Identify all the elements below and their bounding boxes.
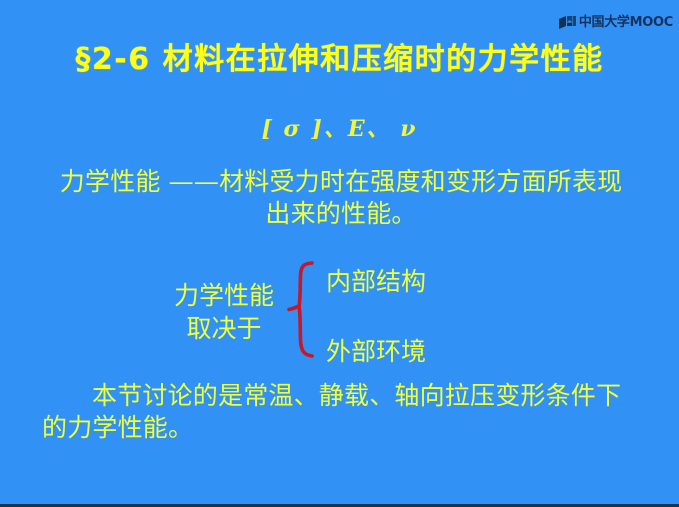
dependency-left-label-line1: 力学性能 bbox=[150, 280, 298, 313]
dependency-item-external: 外部环境 bbox=[326, 332, 426, 368]
dependency-diagram: 力学性能 取决于 内部结构 外部环境 bbox=[150, 258, 550, 368]
page-title: §2-6 材料在拉伸和压缩时的力学性能 bbox=[0, 34, 679, 78]
curly-brace-icon bbox=[278, 258, 326, 362]
dependency-items: 内部结构 外部环境 bbox=[326, 258, 546, 362]
definition-paragraph: 力学性能 ——材料受力时在强度和变形方面所表现出来的性能。 bbox=[50, 166, 632, 230]
dependency-item-internal: 内部结构 bbox=[326, 262, 426, 298]
dependency-left-label: 力学性能 取决于 bbox=[150, 280, 298, 345]
symbol-line: [ σ ]、E、 ν bbox=[0, 111, 679, 143]
mooc-logo-text: 中国大学MOOC bbox=[579, 16, 673, 29]
presentation-slide: 中国大学MOOC §2-6 材料在拉伸和压缩时的力学性能 [ σ ]、E、 ν … bbox=[0, 0, 679, 507]
dependency-left-label-line2: 取决于 bbox=[150, 313, 298, 346]
mooc-book-mark bbox=[559, 16, 576, 29]
scope-paragraph: 本节讨论的是常温、静载、轴向拉压变形条件下的力学性能。 bbox=[42, 380, 638, 444]
mooc-logo: 中国大学MOOC bbox=[559, 16, 673, 29]
